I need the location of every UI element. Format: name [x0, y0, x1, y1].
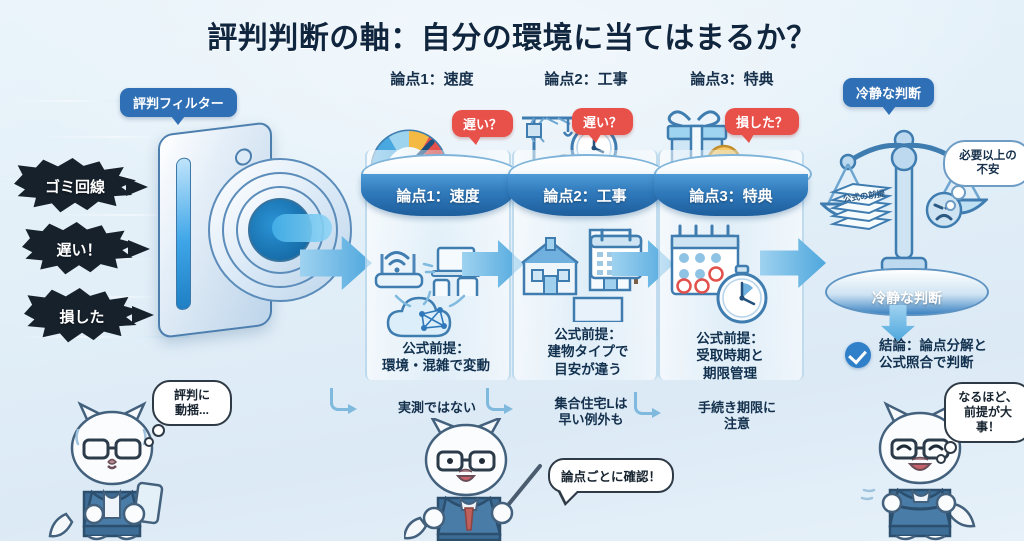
presenter-cat: [404, 418, 544, 541]
excess-anxiety-bubble: 必要以上の 不安: [943, 140, 1024, 187]
premise-line: 期限管理: [650, 365, 810, 382]
cloud-network-icon: [378, 290, 482, 347]
note-line: 手続き期限に: [652, 400, 822, 416]
alert-text: 損した？: [736, 115, 788, 130]
filter-label-text: 評判フィルター: [133, 96, 224, 111]
burst-label: 損した: [59, 306, 104, 327]
premise-line: 公式前提：: [508, 326, 668, 343]
bubble-line: 前提が大事！: [955, 405, 1021, 435]
column-3-band: 論点3：特典: [654, 174, 808, 216]
confident-cat-bubble: なるほど、 前提が大事！: [944, 382, 1024, 443]
column-3-note: 手続き期限に 注意: [652, 400, 822, 433]
conclusion-block: 結論：論点分解と 公式照合で判断: [845, 338, 987, 372]
premise-line: 公式前提：: [356, 340, 516, 357]
column-2-band-label: 論点2：工事: [543, 185, 626, 206]
column-1-band: 論点1：速度: [361, 174, 515, 216]
anxiety-line: 必要以上の: [955, 149, 1021, 163]
column-1-note-hook: [330, 388, 353, 411]
conclusion-text: 結論：論点分解と 公式照合で判断: [879, 338, 987, 372]
column-1-heading: 論点1：速度: [352, 68, 512, 89]
alert-text: 遅い？: [583, 115, 622, 130]
column-3-alert-bubble: 損した？: [725, 108, 799, 135]
column-2-heading: 論点2：工事: [506, 68, 666, 89]
premise-line: 目安が違う: [508, 361, 668, 378]
infographic-canvas: 評判判断の軸：自分の環境に当てはまるか？ ゴミ回線 遅い！ 損した 評判フィルタ…: [0, 0, 1024, 541]
bubble-line: 動揺...: [163, 403, 221, 418]
premise-line: 環境・混雑で変動: [356, 357, 516, 374]
filter-indicator-strip: [176, 157, 191, 311]
column-2-alert-bubble: 遅い？: [572, 108, 633, 135]
presenter-cat-bubble: 論点ごとに確認！: [548, 458, 674, 493]
worried-cat-bubble: 評判に 動揺...: [152, 380, 232, 426]
burst-label: ゴミ回線: [45, 176, 105, 197]
calm-judgement-base-label: 冷静な判断: [872, 288, 942, 314]
burst-arrow-2: [128, 240, 150, 258]
page-title: 評判判断の軸：自分の環境に当てはまるか？: [0, 13, 1024, 57]
column-3-premise: 公式前提： 受取時期と 期限管理: [650, 330, 810, 382]
filter-airflow-icon: [272, 214, 332, 242]
bubble-line: 論点ごとに確認！: [561, 470, 661, 484]
premise-line: 公式前提：: [650, 330, 810, 347]
premise-line: 建物タイプで: [508, 343, 668, 360]
conclusion-line: 結論：論点分解と: [879, 338, 987, 355]
column-2-premise: 公式前提： 建物タイプで 目安が違う: [508, 326, 668, 378]
column-3-heading: 論点3：特典: [652, 68, 812, 89]
anxiety-line: 不安: [955, 163, 1021, 177]
check-circle-icon: [845, 342, 871, 368]
column-3-band-label: 論点3：特典: [689, 185, 772, 206]
column-2-band: 論点2：工事: [508, 174, 662, 216]
calm-judgement-pill: 冷静な判断: [843, 78, 934, 107]
note-line: 注意: [652, 416, 822, 432]
premise-line: 受取時期と: [650, 347, 810, 364]
calm-judgement-base: 冷静な判断: [825, 268, 989, 316]
reputation-filter-device: [148, 128, 348, 343]
column-1-alert-bubble: 遅い？: [452, 110, 513, 137]
bubble-line: なるほど、: [955, 390, 1021, 405]
filter-label-pill: 評判フィルター: [120, 88, 237, 117]
conclusion-line: 公式照合で判断: [879, 355, 987, 372]
calm-judgement-pill-text: 冷静な判断: [856, 86, 921, 101]
burst-arrow-1: [126, 178, 148, 196]
alert-text: 遅い？: [463, 117, 502, 132]
burst-label: 遅い！: [56, 239, 101, 260]
bubble-line: 評判に: [163, 388, 221, 403]
column-1-band-label: 論点1：速度: [396, 185, 479, 206]
column-1-premise: 公式前提： 環境・混雑で変動: [356, 340, 516, 375]
